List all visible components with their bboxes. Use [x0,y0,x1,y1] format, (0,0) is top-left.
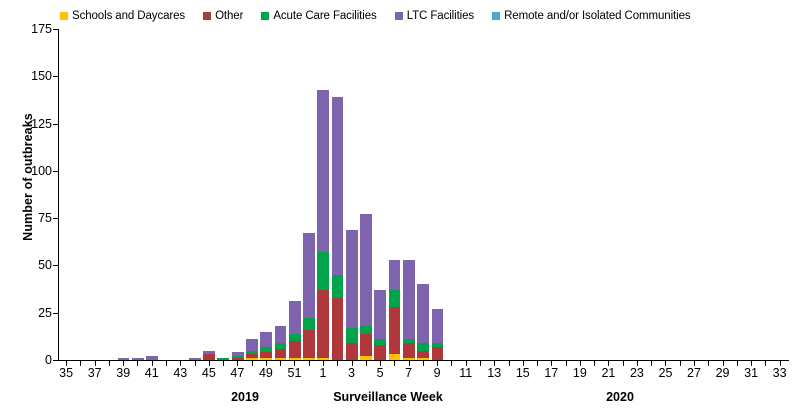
bar-segment-ltc-facilities [403,260,415,339]
bar-segment-other [332,298,344,360]
group-label-2019: 2019 [185,390,305,404]
legend-swatch-icon [203,12,211,20]
x-tick-mark [480,361,481,366]
x-tick-label: 33 [767,367,793,380]
bar-segment-other [346,343,358,360]
x-tick-mark [109,361,110,366]
x-tick-mark [337,361,338,366]
chart-legend: Schools and DaycaresOtherAcute Care Faci… [60,7,796,25]
bar-segment-ltc-facilities [146,356,158,360]
x-tick-label: 41 [139,367,165,380]
x-tick-label: 47 [224,367,250,380]
legend-item-remote-isolated-communities[interactable]: Remote and/or Isolated Communities [492,10,690,22]
x-tick-mark [566,361,567,366]
bar-segment-ltc-facilities [275,326,287,343]
bar-segment-acute-care-facilities [346,328,358,343]
bar-segment-ltc-facilities [417,284,429,343]
y-tick-label: 75 [6,212,52,224]
legend-item-label: Remote and/or Isolated Communities [504,10,690,22]
x-tick-mark [509,361,510,366]
bar-segment-ltc-facilities [260,332,272,347]
bar-week-2[interactable] [332,97,344,360]
y-axis-ticks: 1751501251007550250 [0,0,52,413]
x-tick-label: 19 [567,367,593,380]
bar-week-5[interactable] [374,290,386,360]
bar-segment-other [432,347,444,360]
bar-segment-schools-and-daycares [317,358,329,360]
x-tick-mark [223,361,224,366]
bar-segment-schools-and-daycares [403,358,415,360]
x-tick-label: 29 [710,367,736,380]
bar-segment-schools-and-daycares [389,354,401,360]
bar-week-46[interactable] [217,358,229,360]
bar-week-52[interactable] [303,233,315,360]
legend-item-label: Schools and Daycares [72,10,185,22]
bar-segment-ltc-facilities [360,214,372,326]
bar-week-9[interactable] [432,309,444,360]
bar-week-3[interactable] [346,230,358,361]
bar-segment-other [317,290,329,358]
legend-item-acute-care-facilities[interactable]: Acute Care Facilities [261,10,376,22]
y-tick-label: 25 [6,307,52,319]
bar-segment-ltc-facilities [374,290,386,339]
x-tick-mark [394,361,395,366]
x-tick-mark [252,361,253,366]
x-tick-mark [765,361,766,366]
legend-item-label: Acute Care Facilities [273,10,376,22]
bar-week-47[interactable] [232,352,244,360]
bar-week-48[interactable] [246,339,258,360]
bar-segment-ltc-facilities [332,97,344,275]
x-tick-label: 45 [196,367,222,380]
bar-segment-ltc-facilities [346,230,358,328]
x-tick-label: 1 [310,367,336,380]
x-tick-label: 11 [453,367,479,380]
bar-week-8[interactable] [417,284,429,360]
bar-segment-acute-care-facilities [389,290,401,307]
x-tick-mark [651,361,652,366]
bar-segment-schools-and-daycares [360,356,372,360]
y-tick-label: 125 [6,118,52,130]
bar-week-4[interactable] [360,214,372,360]
bar-segment-acute-care-facilities [289,334,301,342]
bar-segment-other [275,349,287,358]
bar-segment-schools-and-daycares [246,358,258,360]
x-tick-label: 25 [652,367,678,380]
x-tick-label: 17 [538,367,564,380]
bar-week-51[interactable] [289,301,301,360]
x-tick-mark [423,361,424,366]
bar-segment-ltc-facilities [432,309,444,343]
chart-container: Schools and DaycaresOtherAcute Care Faci… [0,0,796,413]
legend-item-schools-and-daycares[interactable]: Schools and Daycares [60,10,185,22]
bar-week-44[interactable] [189,358,201,360]
y-tick-label: 50 [6,259,52,271]
bar-segment-acute-care-facilities [332,275,344,298]
bar-segment-other [417,351,429,359]
y-tick-label: 0 [6,354,52,366]
bar-segment-other [232,358,244,360]
y-tick-label: 175 [6,23,52,35]
bar-segment-schools-and-daycares [303,358,315,360]
x-tick-mark [280,361,281,366]
bar-week-1[interactable] [317,90,329,360]
x-tick-label: 15 [510,367,536,380]
x-tick-label: 13 [481,367,507,380]
bar-segment-ltc-facilities [289,301,301,333]
x-tick-label: 37 [82,367,108,380]
bar-segment-acute-care-facilities [317,252,329,290]
x-tick-label: 21 [595,367,621,380]
bar-segment-ltc-facilities [246,339,258,350]
x-tick-label: 43 [167,367,193,380]
bar-week-7[interactable] [403,260,415,360]
bar-week-6[interactable] [389,260,401,360]
x-tick-label: 39 [110,367,136,380]
x-tick-label: 49 [253,367,279,380]
bar-segment-schools-and-daycares [417,358,429,360]
x-tick-mark [166,361,167,366]
x-tick-mark [137,361,138,366]
legend-swatch-icon [492,12,500,20]
bar-week-50[interactable] [275,326,287,360]
x-tick-mark [594,361,595,366]
x-axis-title: Surveillance Week [328,390,448,404]
plot-area [59,29,789,360]
bar-segment-ltc-facilities [189,358,201,360]
legend-swatch-icon [60,12,68,20]
legend-item-label: Other [215,10,243,22]
bar-week-45[interactable] [203,351,215,360]
x-tick-mark [623,361,624,366]
y-tick-label: 150 [6,70,52,82]
bar-segment-other [303,330,315,358]
legend-swatch-icon [261,12,269,20]
bar-segment-acute-care-facilities [303,318,315,329]
bar-week-41[interactable] [146,356,158,360]
bar-segment-other [360,334,372,357]
x-tick-label: 27 [681,367,707,380]
bar-segment-ltc-facilities [303,233,315,318]
bar-segment-acute-care-facilities [360,326,372,334]
bar-week-49[interactable] [260,332,272,360]
x-tick-label: 31 [738,367,764,380]
bar-segment-acute-care-facilities [217,358,229,360]
x-tick-label: 7 [396,367,422,380]
bar-segment-other [403,343,415,358]
x-tick-mark [737,361,738,366]
x-tick-mark [309,361,310,366]
x-tick-mark [80,361,81,366]
x-tick-mark [680,361,681,366]
bar-segment-ltc-facilities [389,260,401,290]
x-tick-mark [451,361,452,366]
bar-segment-other [374,345,386,360]
y-tick-label: 100 [6,165,52,177]
legend-item-ltc-facilities[interactable]: LTC Facilities [395,10,474,22]
bar-segment-other [203,354,215,360]
x-tick-mark [708,361,709,366]
x-tick-mark [537,361,538,366]
legend-item-other[interactable]: Other [203,10,243,22]
bar-segment-schools-and-daycares [289,358,301,360]
bar-segment-other [289,341,301,358]
x-tick-label: 23 [624,367,650,380]
bar-segment-acute-care-facilities [417,343,429,351]
x-tick-mark [366,361,367,366]
x-tick-label: 3 [339,367,365,380]
bar-segment-ltc-facilities [317,90,329,253]
x-tick-mark [195,361,196,366]
group-label-2020: 2020 [560,390,680,404]
bar-segment-schools-and-daycares [275,358,287,360]
x-tick-label: 9 [424,367,450,380]
bar-week-39[interactable] [118,358,130,360]
legend-item-label: LTC Facilities [407,10,474,22]
bar-segment-ltc-facilities [118,358,130,360]
bar-week-40[interactable] [132,358,144,360]
bar-segment-schools-and-daycares [260,358,272,360]
bar-segment-other [389,307,401,354]
legend-swatch-icon [395,12,403,20]
x-tick-label: 5 [367,367,393,380]
x-tick-label: 51 [281,367,307,380]
bar-segment-ltc-facilities [132,358,144,360]
x-tick-label: 35 [53,367,79,380]
